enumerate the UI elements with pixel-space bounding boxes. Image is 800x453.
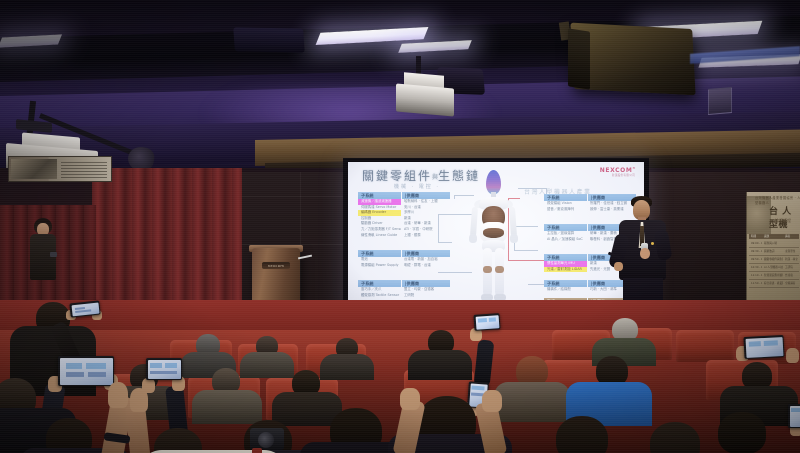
- smartphone: [50, 252, 57, 257]
- cell-subsystem: 機構件／結構殼: [544, 287, 587, 293]
- camera-lens: [258, 432, 274, 448]
- ceiling-projector: [396, 83, 454, 116]
- attendee-body: [30, 234, 56, 280]
- header-subsystem: 子系統: [358, 192, 401, 199]
- header-supplier: |供應商: [401, 280, 450, 287]
- presenter-lapel-badge: [651, 242, 654, 245]
- phone-screen-content: [150, 371, 177, 374]
- banner-table-row: 11:50 - 12:30 綜合座談 · 產業對談 全體講者: [749, 280, 799, 288]
- row-topic: 報到與入場: [762, 240, 783, 247]
- header-subsystem: 子系統: [358, 250, 401, 257]
- robot-hand-left: [469, 234, 477, 243]
- cell-supplier: 上銀 · 銀泰: [401, 233, 450, 239]
- slide-title: 關鍵零組件與生態鏈: [362, 167, 480, 184]
- humanoid-robot-illustration: [466, 170, 520, 310]
- audience-hand: [130, 388, 148, 412]
- cell-subsystem: 電源模組 Power Supply: [358, 263, 401, 269]
- wall-poster: [8, 156, 112, 182]
- wall-seam: [236, 196, 360, 197]
- row-speaker: 工研院: [783, 264, 799, 271]
- connector-line: [518, 188, 546, 189]
- row-topic: AI 人型機器人技術趨勢: [762, 264, 783, 271]
- phone-screen-content: [764, 340, 778, 346]
- audience-head-foreground: [718, 412, 766, 453]
- ceiling-speaker: [233, 27, 305, 52]
- cell-subsystem: 線性滑軌 Linear Guide: [358, 233, 401, 239]
- tablet-screen-content: [66, 372, 84, 377]
- audience-hand: [400, 388, 420, 410]
- robot-hand-right: [510, 234, 518, 243]
- tablet-screen: [60, 358, 113, 385]
- audience-hand: [108, 382, 128, 408]
- audience-arm-raised: [474, 339, 495, 386]
- attendee-standing-left: [26, 218, 60, 284]
- ceiling: [0, 0, 800, 175]
- table-header: 子系統 |供應商: [358, 250, 450, 257]
- row-time: 09:30 - 09:50: [749, 248, 762, 255]
- phone-screen-content: [489, 317, 496, 321]
- audience-shoulders: [408, 350, 472, 380]
- poster-text-block: [61, 160, 107, 178]
- header-subsystem: 子系統: [544, 254, 587, 261]
- smartphone-recording[interactable]: [743, 335, 784, 359]
- banner-table-row: 09:50 - 10:30 關鍵零組件與生態鏈 新漢 · 林立: [749, 256, 799, 264]
- table-row: 電源模組 Power Supply 明緯 · 群電 · 台達: [358, 263, 450, 269]
- slide-title-part1: 關鍵零組件: [362, 169, 432, 183]
- header-subsystem: 子系統: [358, 280, 401, 287]
- row-time: 11:50 - 12:30: [749, 280, 762, 287]
- robot-knee-left: [483, 266, 492, 273]
- cell-subsystem: AI 晶片／加速模組 SoC: [544, 237, 587, 243]
- audience-shoulders: [494, 382, 570, 422]
- table-row: 線性滑軌 Linear Guide 上銀 · 銀泰: [358, 233, 450, 239]
- row-topic: 開幕致詞: [762, 248, 783, 255]
- wall-access-panel: [708, 87, 732, 115]
- presenter-hand-left: [614, 262, 623, 271]
- podium-logo-plate: nexcom: [262, 262, 290, 269]
- camera-strap: [252, 448, 262, 453]
- smartphone-recording[interactable]: [473, 313, 500, 331]
- slide-table-left-1: 子系統 |供應商 減速機／諧波減速器 哈默納科 · 住友 · 上銀 伺服馬達 S…: [358, 192, 450, 238]
- logo-subtitle: 新漢股份有限公司: [612, 173, 635, 177]
- audience-shoulders: [192, 390, 262, 424]
- row-speaker: [783, 240, 799, 247]
- auditorium-scene: 台灣機器人產業發展協會 · 人型機器人 台 人型機 論壇議程 時間 議題 講者 …: [0, 0, 800, 453]
- audience-shoulders: [320, 354, 374, 380]
- phone-screen-content: [749, 341, 761, 347]
- projection-screen: 關鍵零組件與生態鏈 機械 · 電控 · 台灣人型機器人產業 NEXCOM® 新漢…: [348, 162, 644, 314]
- tablet-screen-content: [86, 363, 106, 369]
- banner-table-row: 10:30 - 11:10 AI 人型機器人技術趨勢 工研院: [749, 264, 799, 272]
- table-header: 子系統 |供應商: [358, 280, 450, 287]
- banner-col-speaker: 講者: [783, 234, 799, 239]
- tablet-screen-content: [88, 372, 106, 377]
- header-supplier: |供應商: [401, 250, 450, 257]
- phone-screen-content: [791, 408, 800, 412]
- smartphone-recording[interactable]: [788, 404, 800, 428]
- smartphone-recording[interactable]: [146, 358, 182, 380]
- presenter-hand-right: [640, 248, 650, 259]
- audience-hand: [482, 390, 502, 412]
- podium-logo-text: nexcom: [268, 264, 285, 268]
- header-supplier: |供應商: [401, 192, 450, 199]
- tablet-screen-content: [66, 363, 82, 369]
- cell-supplier: 工研院: [401, 293, 450, 299]
- phone-screen-content: [165, 363, 177, 368]
- tablet-recording[interactable]: [58, 356, 114, 386]
- robot-knee-right: [495, 266, 504, 273]
- slide-table-left-3: 子系統 |供應商 靈巧手／夾爪 盟立 · 均豪 · 亞德客 觸覺感測 Tacti…: [358, 280, 450, 298]
- row-time: 09:50 - 10:30: [749, 256, 762, 263]
- audience: 019: [0, 300, 800, 453]
- banner-schedule-table: 時間 議題 講者 09:00 - 09:30 報到與入場 09:30 - 09:…: [749, 234, 799, 288]
- row-speaker: 全體講者: [783, 280, 799, 287]
- banner-headline: 台 人型機: [769, 204, 800, 230]
- banner-col-time: 時間: [749, 234, 762, 239]
- row-speaker: 台達電: [783, 272, 799, 279]
- banner-table-row: 11:10 - 11:50 智慧製造應用實例分享 台達電: [749, 272, 799, 280]
- row-topic: 關鍵零組件與生態鏈: [762, 256, 783, 263]
- robot-arm-right: [509, 207, 517, 237]
- row-speaker: 新漢 · 林立: [783, 256, 799, 263]
- theater-seat: [676, 330, 734, 362]
- row-time: 10:30 - 11:10: [749, 264, 762, 271]
- banner-table-row: 09:30 - 09:50 開幕致詞 主辦單位: [749, 248, 799, 256]
- connector-line: [528, 284, 544, 285]
- row-topic: 綜合座談 · 產業對談: [762, 280, 783, 287]
- banner-col-topic: 議題: [762, 234, 783, 239]
- banner-table-row: 09:00 - 09:30 報到與入場: [749, 240, 799, 248]
- header-subsystem: 子系統: [544, 194, 587, 201]
- banner-table-header: 時間 議題 講者: [749, 234, 799, 239]
- phone-screen-content: [471, 386, 484, 391]
- logo-trademark: ®: [632, 166, 636, 170]
- header-subsystem: 子系統: [544, 224, 587, 231]
- slide-subtitle: 機械 · 電控 ·: [394, 183, 440, 190]
- phone-screen-content: [150, 363, 162, 368]
- robot-waist: [483, 228, 504, 238]
- connector-line: [438, 242, 452, 243]
- header-subsystem: 子系統: [544, 280, 587, 287]
- banner-subhead: 論壇議程: [775, 218, 791, 224]
- row-topic: 智慧製造應用實例分享: [762, 272, 783, 279]
- cell-subsystem: 觸覺感測 Tactile Sensor: [358, 293, 401, 299]
- audience-shoulders: [240, 352, 294, 378]
- slide-table-left-2: 子系統 |供應商 電池 台達電 · 新普 · 加百裕 電源模組 Power Su…: [358, 250, 450, 268]
- robot-arm-left: [470, 207, 478, 237]
- table-row: 觸覺感測 Tactile Sensor 工研院: [358, 293, 450, 299]
- phone-screen-content: [478, 318, 487, 323]
- cell-subsystem: 語音／麥克風陣列: [544, 207, 587, 213]
- cell-supplier: 明緯 · 群電 · 台達: [401, 263, 450, 269]
- row-time: 11:10 - 11:50: [749, 272, 762, 279]
- connector-line: [454, 195, 455, 199]
- row-time: 09:00 - 09:30: [749, 240, 762, 247]
- robot-head: [486, 170, 501, 194]
- audience-head-foreground: [556, 416, 608, 453]
- audience-hand: [786, 348, 799, 363]
- speaker-grille: [568, 28, 590, 89]
- audience-head-foreground: [650, 422, 700, 453]
- table-header: 子系統 |供應商: [358, 192, 450, 199]
- cell-subsystem: 光達／雷射測距 LiDAR: [544, 267, 587, 273]
- poster-photo: [11, 159, 57, 179]
- row-speaker: 主辦單位: [783, 248, 799, 255]
